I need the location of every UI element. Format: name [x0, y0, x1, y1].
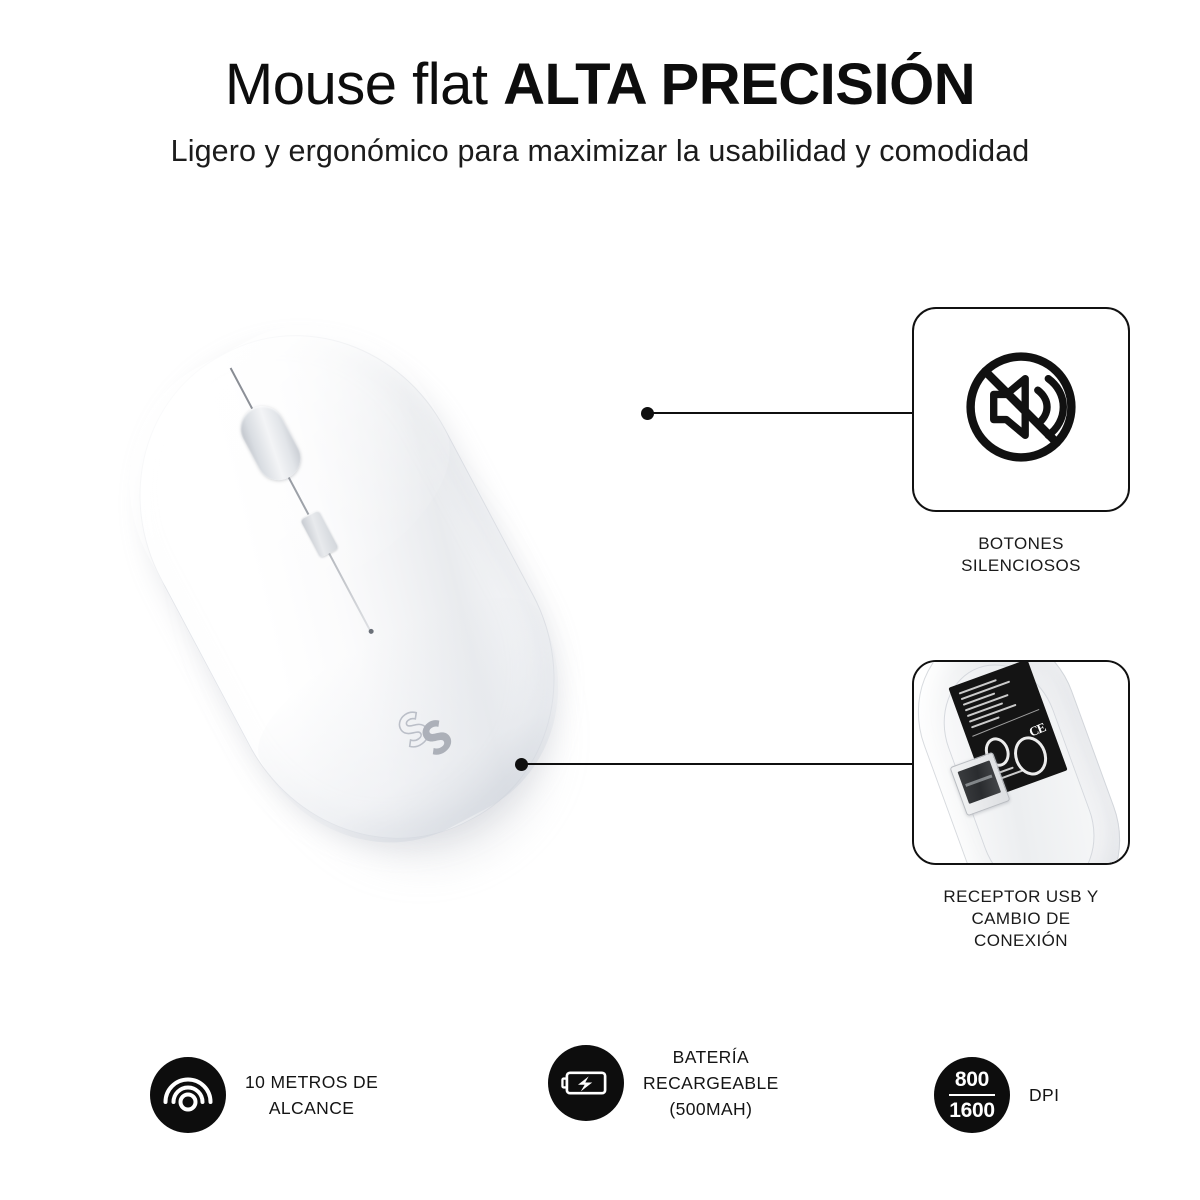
mute-speaker-icon — [958, 344, 1084, 475]
usb-receiver-photo: CE — [914, 662, 1128, 863]
feature-label-rechargeable-battery: BATERÍA RECARGEABLE (500MAH) — [643, 1044, 779, 1122]
button-split-line-icon — [230, 368, 372, 634]
feature-label-dpi: DPI — [1029, 1082, 1059, 1108]
dpi-switch-button-icon — [299, 510, 338, 559]
callout-usb-receiver[interactable]: CE RECEPTOR USB Y CAMBIO DE CONEXIÓN — [912, 660, 1130, 952]
callout-caption-usb-receiver: RECEPTOR USB Y CAMBIO DE CONEXIÓN — [912, 886, 1130, 952]
scroll-wheel-icon — [233, 398, 308, 488]
wireless-range-icon — [150, 1057, 226, 1133]
caption-line: SILENCIOSOS — [912, 555, 1130, 577]
rechargeable-battery-icon — [548, 1045, 624, 1121]
callout-caption-silent-buttons: BOTONES SILENCIOSOS — [912, 533, 1130, 577]
caption-line: BOTONES — [912, 533, 1130, 555]
dpi-divider — [949, 1094, 995, 1097]
label-line: DPI — [1029, 1082, 1059, 1108]
page-subtitle: Ligero y ergonómico para maximizar la us… — [0, 132, 1200, 170]
page-title-bold: ALTA PRECISIÓN — [503, 52, 975, 117]
caption-line: CAMBIO DE — [912, 908, 1130, 930]
label-line: RECARGEABLE — [643, 1070, 779, 1096]
feature-rechargeable-battery[interactable]: BATERÍA RECARGEABLE (500MAH) — [548, 1044, 779, 1122]
dpi-icon: 800 1600 — [934, 1057, 1010, 1133]
label-line: ALCANCE — [245, 1095, 378, 1121]
label-line: BATERÍA — [643, 1044, 779, 1070]
dpi-values: 800 1600 — [949, 1069, 995, 1122]
leader-line-usb-receiver — [522, 763, 914, 765]
feature-row: 10 METROS DE ALCANCE BATERÍA RECARGEABLE… — [0, 1030, 1200, 1160]
label-line: 10 METROS DE — [245, 1069, 378, 1095]
split-line-end-dot-icon — [367, 628, 374, 635]
dpi-value-high: 1600 — [949, 1100, 995, 1121]
feature-dpi[interactable]: 800 1600 DPI — [934, 1057, 1059, 1133]
feature-label-wireless-range: 10 METROS DE ALCANCE — [245, 1069, 378, 1121]
leader-line-silent-buttons — [648, 412, 914, 414]
caption-line: CONEXIÓN — [912, 930, 1130, 952]
callout-silent-buttons[interactable]: BOTONES SILENCIOSOS — [912, 307, 1130, 577]
page-title-light: Mouse flat — [225, 52, 503, 117]
label-line: (500MAH) — [643, 1096, 779, 1122]
callout-box-usb-receiver: CE — [912, 660, 1130, 865]
page-title: Mouse flat ALTA PRECISIÓN — [0, 52, 1200, 118]
callout-box-silent-buttons — [912, 307, 1130, 512]
product-image — [120, 285, 740, 895]
header: Mouse flat ALTA PRECISIÓN Ligero y ergon… — [0, 52, 1200, 170]
caption-line: RECEPTOR USB Y — [912, 886, 1130, 908]
dpi-value-low: 800 — [949, 1069, 995, 1090]
feature-wireless-range[interactable]: 10 METROS DE ALCANCE — [150, 1057, 378, 1133]
double-s-logo-icon — [378, 686, 474, 782]
usb-dongle-connector — [958, 760, 1002, 804]
